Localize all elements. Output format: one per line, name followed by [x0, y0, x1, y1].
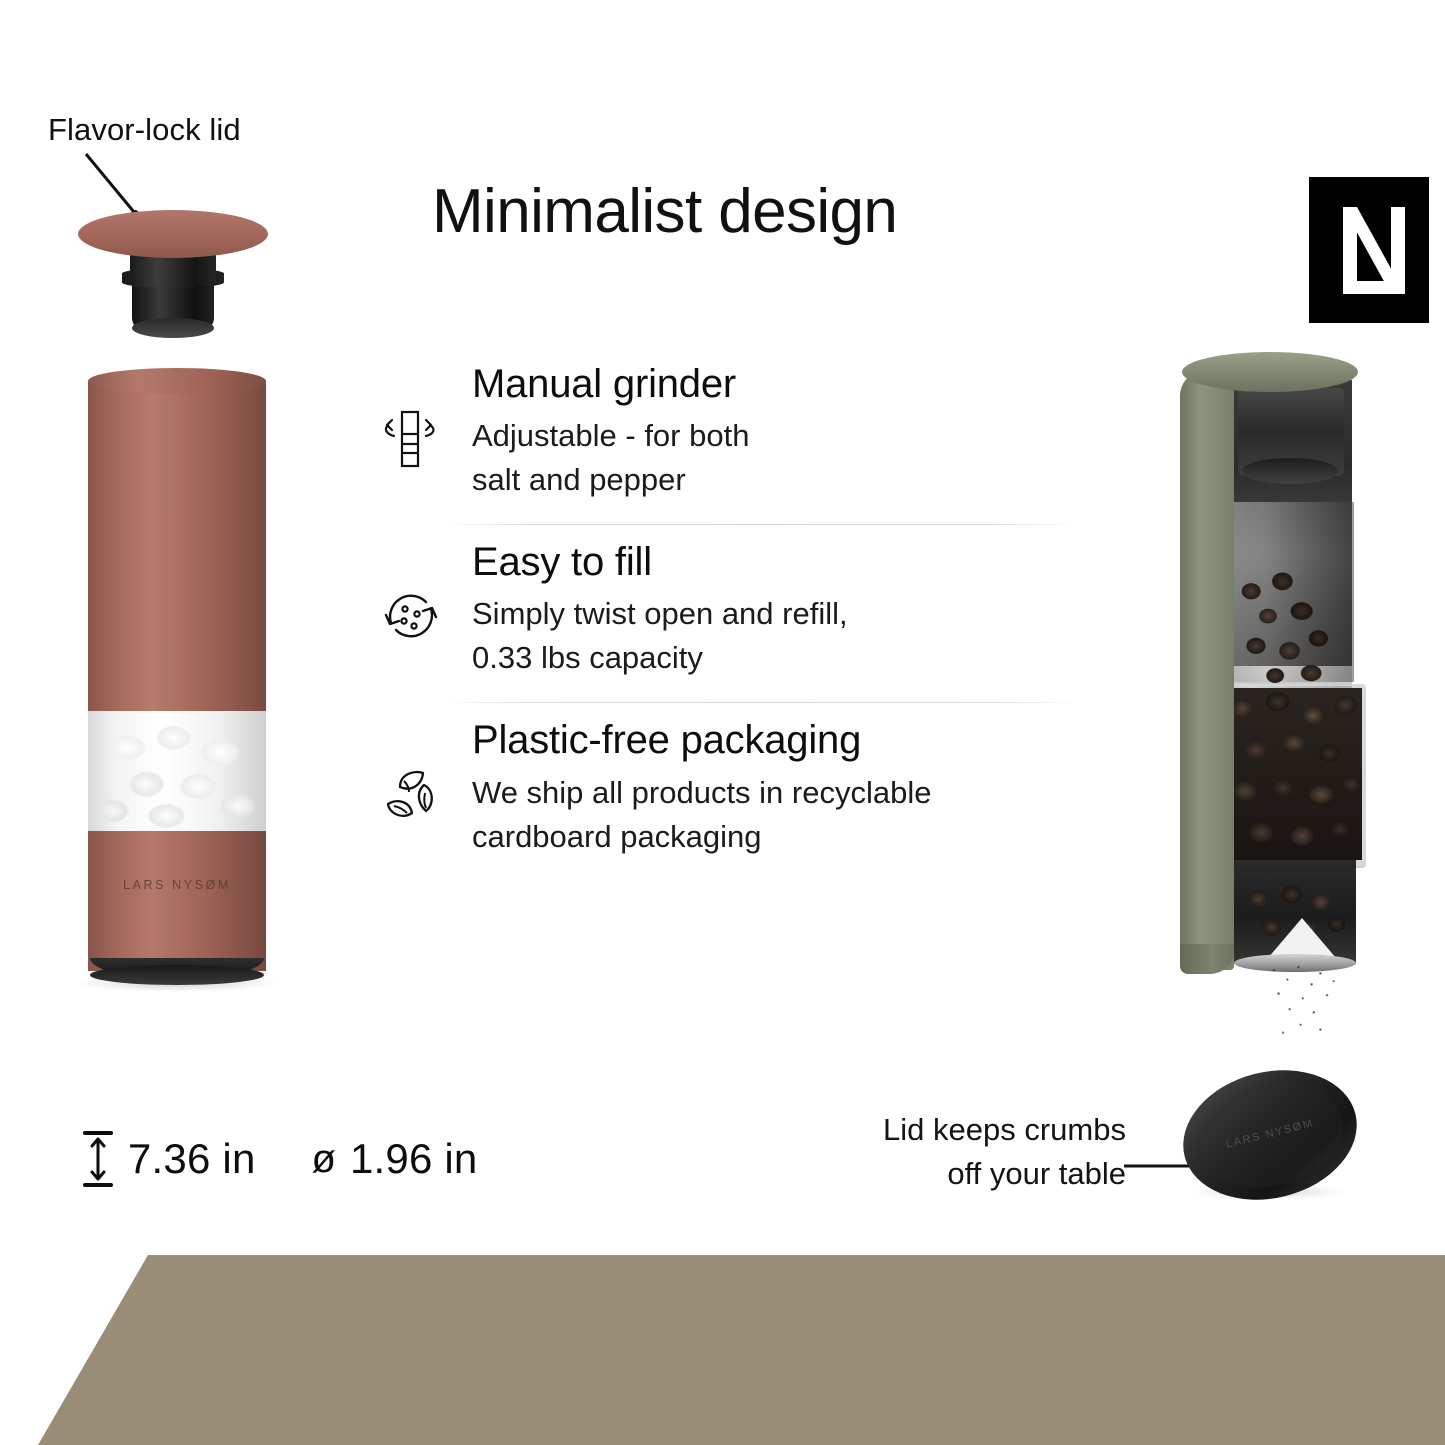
banner-prefix: Over: [261, 68, 361, 122]
feature-icon-wrap: [380, 717, 472, 827]
feature-text-wrap: Manual grinder Adjustable - for both sal…: [472, 361, 1080, 502]
grinder-top-cap: [1182, 352, 1358, 392]
grinder-mechanism-ring: [1242, 458, 1338, 484]
grinder-lower-body: [88, 831, 266, 971]
infographic-page: Flavor-lock lid LARS NYSØM Minimalist de…: [0, 0, 1445, 1445]
feature-divider: [440, 702, 1080, 703]
banner-background: [0, 1255, 1445, 1445]
height-value: 7.36 in: [128, 1135, 256, 1183]
feature-icon-wrap: [380, 539, 472, 647]
grinder-upper-body: [88, 381, 266, 711]
grinder-rotate-icon: [380, 407, 440, 471]
lid-plug-bottom: [132, 318, 214, 338]
dimensions-row: 7.36 in ø 1.96 in: [82, 1128, 477, 1190]
banner-suffix: customers worldwide: [751, 68, 1184, 122]
feature-text-wrap: Plastic-free packaging We ship all produ…: [472, 717, 1080, 858]
feature-icon-wrap: [380, 361, 472, 471]
grinder-top-cap: [88, 368, 266, 394]
diameter-dimension: ø 1.96 in: [312, 1135, 478, 1183]
grinder-burr-cone: [1268, 918, 1336, 958]
refill-circular-arrows-icon: [380, 585, 442, 647]
peppercorns-upper: [1232, 564, 1352, 688]
bottom-banner: [0, 1255, 1445, 1445]
banner-highlight: 1 million satisfied: [361, 68, 751, 122]
feature-title: Easy to fill: [472, 539, 1080, 586]
feature-item-manual-grinder: Manual grinder Adjustable - for both sal…: [380, 355, 1080, 512]
feature-title: Plastic-free packaging: [472, 717, 1080, 764]
salt-view-window: [88, 711, 266, 833]
lid-top-disc: [78, 210, 268, 258]
salt-grinder-graphic: LARS NYSØM: [88, 368, 266, 983]
diameter-symbol-icon: ø: [312, 1137, 336, 1182]
peppercorns-window: [1226, 688, 1362, 860]
grinder-brand-engraving: LARS NYSØM: [88, 878, 266, 892]
feature-description: Simply twist open and refill, 0.33 lbs c…: [472, 592, 1080, 680]
feature-title: Manual grinder: [472, 361, 1080, 408]
brand-logo: [1309, 177, 1429, 323]
height-dimension: 7.36 in: [82, 1128, 256, 1190]
banner-text: Over 1 million satisfied customers world…: [0, 0, 1445, 190]
grinder-outer-shell: [1180, 370, 1234, 970]
diameter-value: 1.96 in: [350, 1135, 478, 1183]
feature-item-easy-to-fill: Easy to fill Simply twist open and refil…: [380, 533, 1080, 690]
feature-item-plastic-free-packaging: Plastic-free packaging We ship all produ…: [380, 711, 1080, 868]
ln-monogram-logo-icon: [1309, 177, 1429, 323]
lid-keeps-crumbs-label: Lid keeps crumbs off your table: [806, 1108, 1126, 1196]
feature-divider: [440, 524, 1080, 525]
feature-list: Manual grinder Adjustable - for both sal…: [380, 355, 1080, 869]
silicone-lid-graphic: LARS NYSØM: [1182, 1072, 1358, 1204]
height-arrow-icon: [82, 1128, 114, 1190]
feature-description: Adjustable - for both salt and pepper: [472, 414, 1080, 502]
flavor-lock-lid-graphic: [78, 210, 268, 335]
recycle-leaves-icon: [380, 763, 444, 827]
grinder-base-foot: [90, 965, 264, 985]
pepper-grinder-graphic: [1172, 352, 1368, 992]
feature-text-wrap: Easy to fill Simply twist open and refil…: [472, 539, 1080, 680]
feature-description: We ship all products in recyclable cardb…: [472, 771, 1080, 859]
ground-pepper-falling: [1250, 964, 1360, 1042]
